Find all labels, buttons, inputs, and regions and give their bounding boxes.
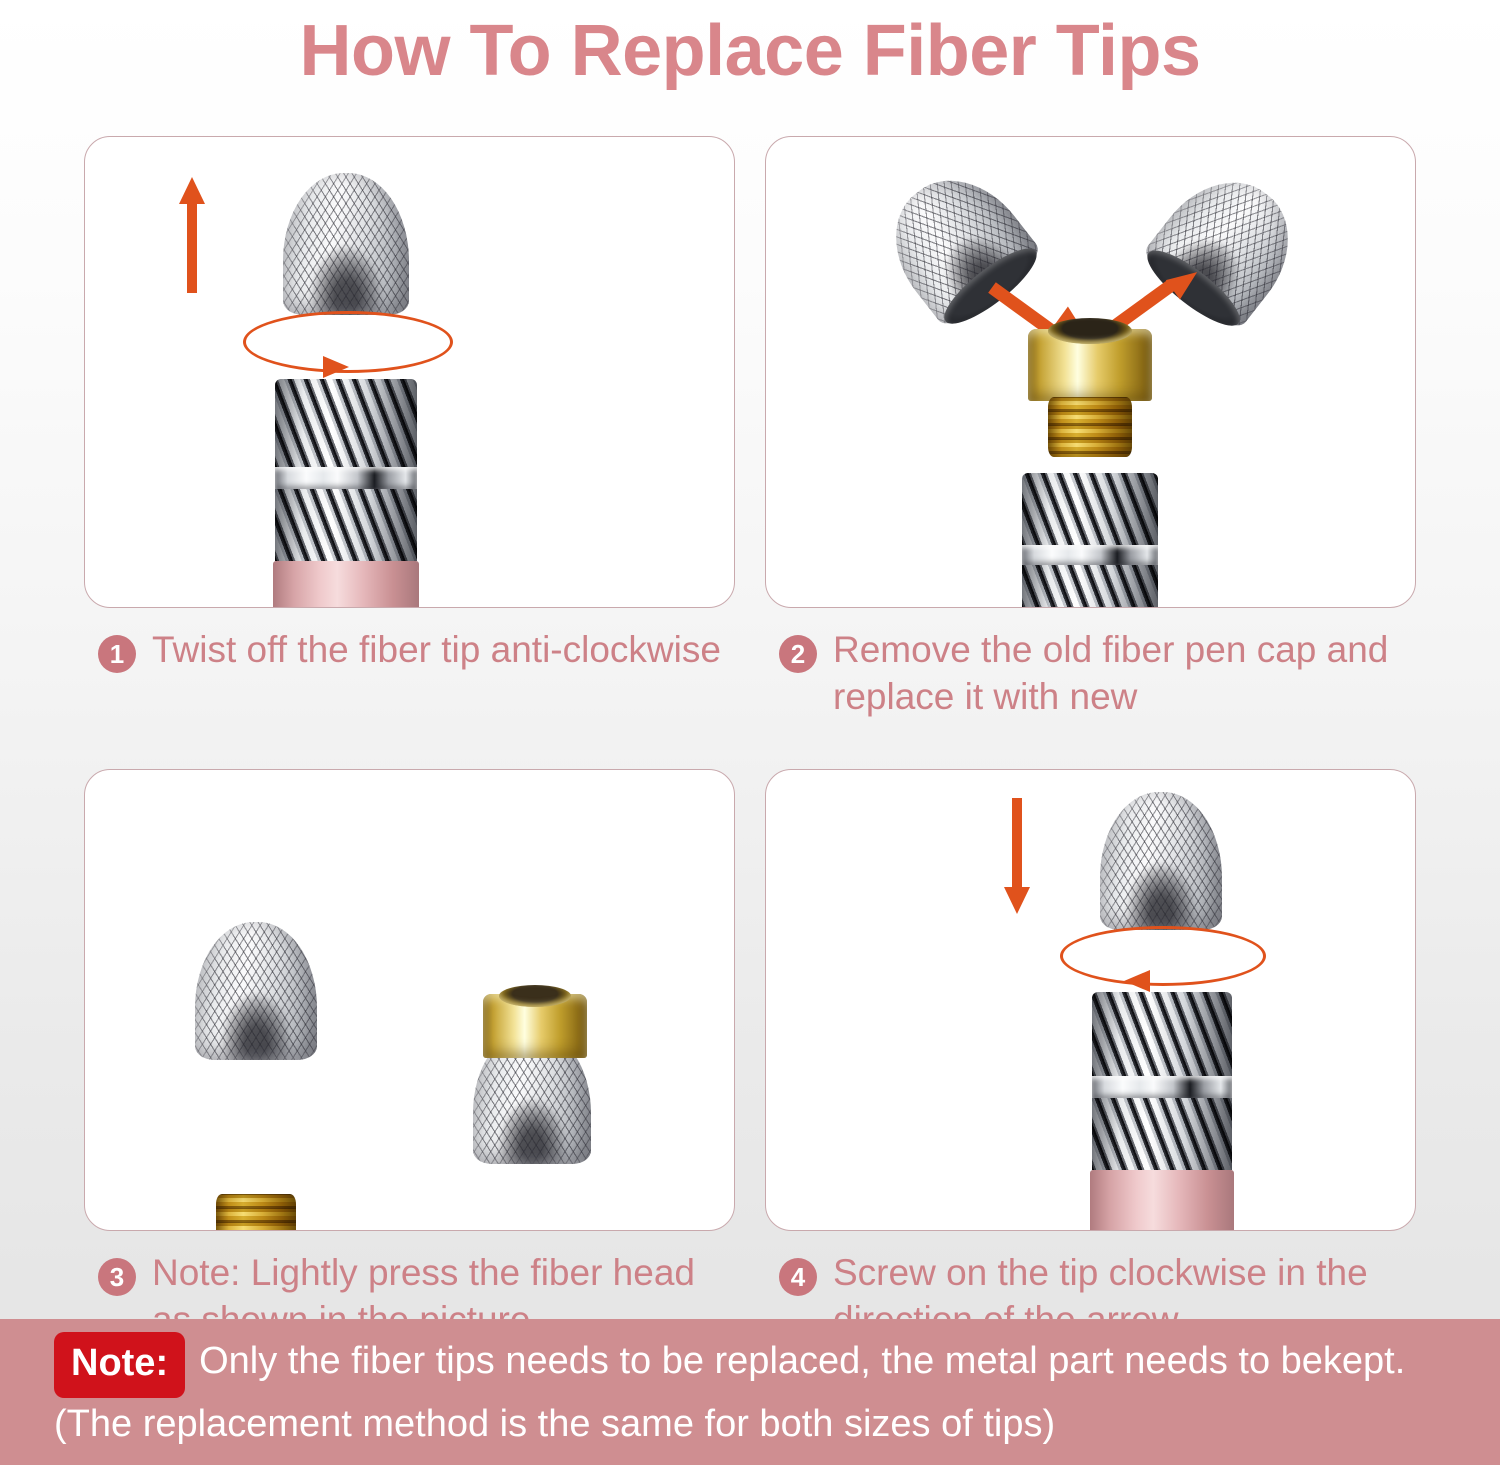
knurled-pen-barrel-upper — [1092, 992, 1232, 1076]
step-1-caption: 1 Twist off the fiber tip anti-clockwise — [84, 608, 735, 673]
step-2-cell: 2 Remove the old fiber pen cap and repla… — [765, 136, 1416, 721]
up-arrow-icon — [179, 177, 205, 293]
step-3-number: 3 — [98, 1258, 136, 1296]
step-1-illustration — [84, 136, 735, 608]
step-2-caption: 2 Remove the old fiber pen cap and repla… — [765, 608, 1416, 721]
knurled-pen-barrel-lower — [1022, 565, 1158, 608]
knurled-pen-barrel-upper — [1022, 473, 1158, 545]
knurled-pen-barrel-lower — [275, 489, 417, 561]
knurled-pen-barrel-lower — [1092, 1098, 1232, 1170]
step-4-number: 4 — [779, 1258, 817, 1296]
rose-gold-pen-base — [1090, 1170, 1234, 1231]
clockwise-rotation-icon — [1060, 926, 1266, 986]
step-1-cell: 1 Twist off the fiber tip anti-clockwise — [84, 136, 735, 721]
gold-ferrule-threads — [1048, 397, 1132, 457]
note-content: Note:Only the fiber tips needs to be rep… — [0, 1332, 1500, 1452]
step-2-text: Remove the old fiber pen cap and replace… — [833, 626, 1410, 721]
rotation-arrowhead-icon — [323, 356, 349, 378]
down-arrow-icon — [1004, 798, 1030, 914]
fiber-tip-cap — [1100, 792, 1222, 930]
step-3-cell: 3 Note: Lightly press the fiber head as … — [84, 769, 735, 1344]
step-4-cell: 4 Screw on the tip clockwise in the dire… — [765, 769, 1416, 1344]
page-title: How To Replace Fiber Tips — [0, 0, 1500, 96]
rotation-arrowhead-icon — [1124, 970, 1150, 992]
step-1-number: 1 — [98, 635, 136, 673]
assembled-fiber-tip-threads — [216, 1194, 296, 1231]
pen-barrel-band — [1022, 545, 1158, 565]
pen-barrel-band — [1092, 1076, 1232, 1098]
step-2-number: 2 — [779, 635, 817, 673]
pen-barrel-band — [275, 467, 417, 489]
note-text: Only the fiber tips needs to be replaced… — [54, 1340, 1405, 1445]
note-bar: Note:Only the fiber tips needs to be rep… — [0, 1319, 1500, 1465]
knurled-pen-barrel-upper — [275, 379, 417, 467]
assembled-fiber-tip-cap — [195, 922, 317, 1060]
step-4-illustration — [765, 769, 1416, 1231]
separated-gold-ferrule — [483, 994, 587, 1058]
step-3-illustration — [84, 769, 735, 1231]
note-badge: Note: — [54, 1332, 185, 1398]
gold-ferrule — [1028, 329, 1152, 401]
fiber-tip-cap — [283, 173, 409, 315]
step-1-text: Twist off the fiber tip anti-clockwise — [152, 626, 729, 673]
step-2-illustration — [765, 136, 1416, 608]
rose-gold-pen-base — [273, 561, 419, 608]
steps-grid: 1 Twist off the fiber tip anti-clockwise — [84, 136, 1416, 1343]
